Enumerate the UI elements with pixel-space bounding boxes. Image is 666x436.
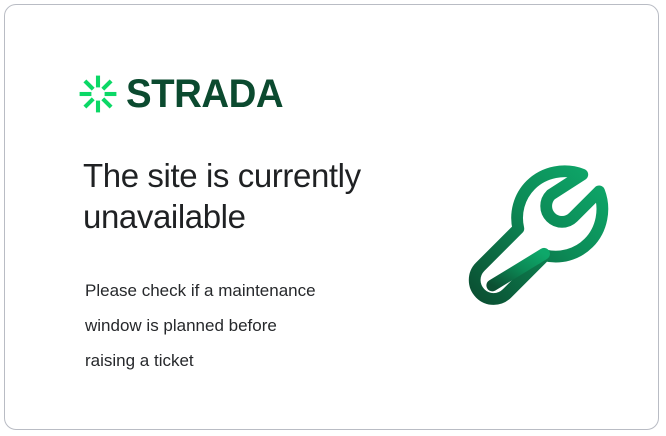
page-title: The site is currently unavailable (83, 155, 413, 237)
starburst-asterisk-icon (79, 75, 117, 113)
error-page: STRADA The site is currently unavailable… (0, 0, 666, 436)
brand-logo: STRADA (79, 71, 290, 117)
wrench-icon (457, 153, 625, 321)
description-line-1: Please check if a maintenance (85, 273, 405, 308)
page-description: Please check if a maintenance window is … (85, 273, 405, 378)
content-card: STRADA The site is currently unavailable… (4, 4, 659, 430)
description-line-2: window is planned before (85, 308, 405, 343)
brand-wordmark: STRADA (126, 74, 283, 114)
description-line-3: raising a ticket (85, 343, 405, 378)
